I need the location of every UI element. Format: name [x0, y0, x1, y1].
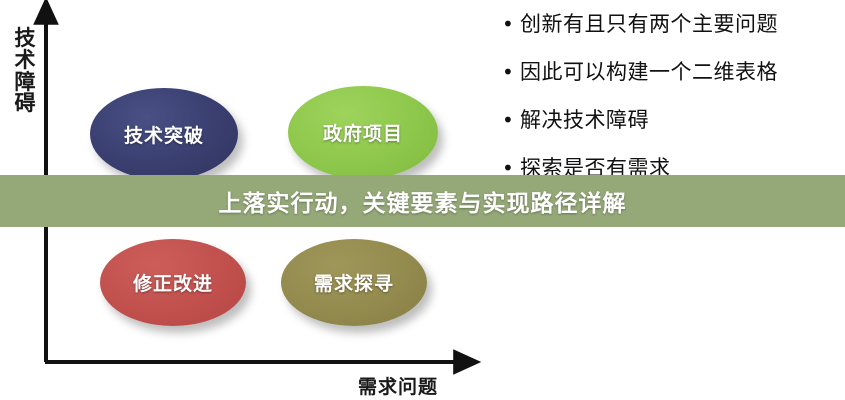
bubble-tech-breakthrough[interactable]: 技术突破 — [90, 88, 238, 180]
x-axis-label: 需求问题 — [358, 372, 438, 399]
bullet-marker-icon: • — [498, 58, 520, 86]
y-axis-label-char-3: 障 — [8, 72, 42, 94]
y-axis-label: 技 术 障 碍 — [8, 28, 42, 115]
watermark-banner: 上落实行动，关键要素与实现路径详解 — [0, 175, 845, 227]
bullet-text-1: 创新有且只有两个主要问题 — [520, 10, 778, 38]
y-axis-label-char-2: 术 — [8, 50, 42, 72]
bullet-text-3: 解决技术障碍 — [520, 106, 649, 134]
y-axis-label-char-4: 碍 — [8, 93, 42, 115]
bubble-fix-improve[interactable]: 修正改进 — [100, 239, 246, 326]
list-item: • 解决技术障碍 — [498, 106, 836, 154]
y-axis-label-char-1: 技 — [8, 28, 42, 50]
bubble-label-demand-explore: 需求探寻 — [314, 269, 394, 296]
watermark-title: 上落实行动，关键要素与实现路径详解 — [219, 184, 627, 218]
bullet-marker-icon: • — [498, 10, 520, 38]
bubble-label-fix-improve: 修正改进 — [133, 269, 213, 296]
list-item: • 创新有且只有两个主要问题 — [498, 10, 836, 58]
list-item: • 因此可以构建一个二维表格 — [498, 58, 836, 106]
bubble-label-tech-breakthrough: 技术突破 — [124, 121, 204, 148]
bullet-list: • 创新有且只有两个主要问题 • 因此可以构建一个二维表格 • 解决技术障碍 •… — [498, 10, 836, 202]
bullet-marker-icon: • — [498, 106, 520, 134]
bullet-text-2: 因此可以构建一个二维表格 — [520, 58, 778, 86]
bubble-gov-project[interactable]: 政府项目 — [288, 86, 438, 179]
slide-canvas: 技 术 障 碍 需求问题 技术突破 政府项目 修正改进 需求探寻 • 创新有且只… — [0, 0, 845, 400]
bubble-label-gov-project: 政府项目 — [323, 119, 403, 146]
bubble-demand-explore[interactable]: 需求探寻 — [281, 239, 427, 326]
